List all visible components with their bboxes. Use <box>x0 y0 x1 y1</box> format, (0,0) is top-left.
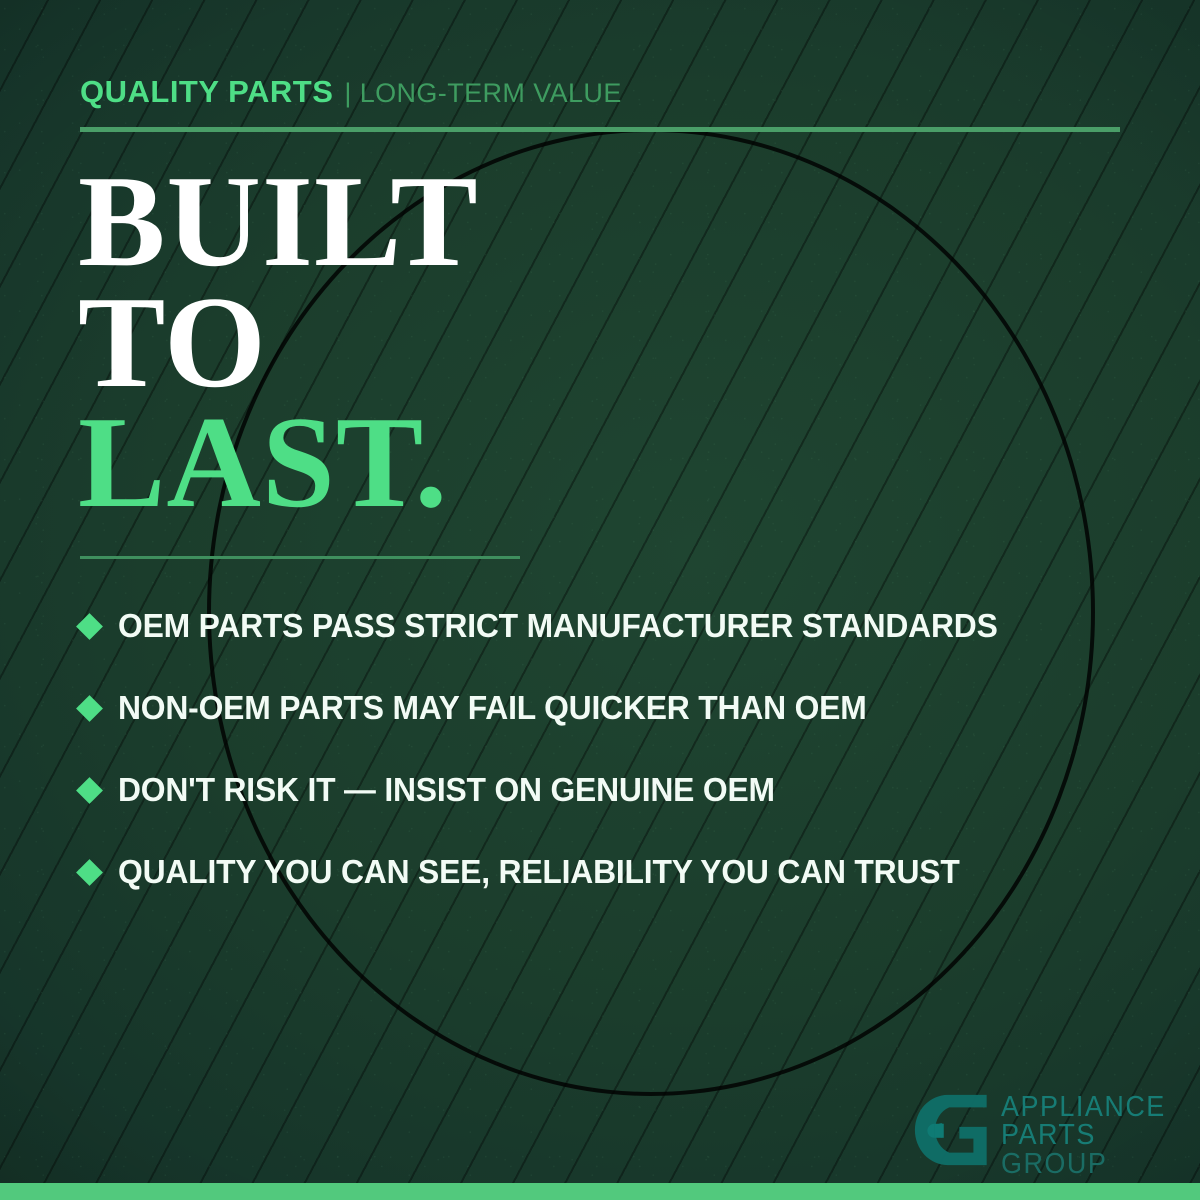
header-divider-rule <box>80 127 1120 132</box>
eyebrow-secondary-label: | LONG-TERM VALUE <box>344 78 621 109</box>
brand-logo-line-1: APPLIANCE <box>1001 1093 1166 1121</box>
list-item: QUALITY YOU CAN SEE, RELIABILITY YOU CAN… <box>80 831 1150 913</box>
list-item-label: QUALITY YOU CAN SEE, RELIABILITY YOU CAN… <box>118 853 960 891</box>
bottom-accent-bar <box>0 1183 1200 1200</box>
headline-line-3: LAST. <box>78 403 479 524</box>
eyebrow-heading: QUALITY PARTS | LONG-TERM VALUE <box>80 74 622 110</box>
list-item: OEM PARTS PASS STRICT MANUFACTURER STAND… <box>80 585 1150 667</box>
brand-logo: APPLIANCE PARTS GROUP <box>911 1091 1178 1178</box>
benefits-list: OEM PARTS PASS STRICT MANUFACTURER STAND… <box>80 585 1150 913</box>
diamond-bullet-icon <box>76 859 103 886</box>
brand-logo-line-2: PARTS <box>1001 1121 1166 1149</box>
diamond-bullet-icon <box>76 613 103 640</box>
eyebrow-primary-label: QUALITY PARTS <box>80 74 333 110</box>
headline-line-2: TO <box>78 283 479 404</box>
list-item: NON-OEM PARTS MAY FAIL QUICKER THAN OEM <box>80 667 1150 749</box>
brand-logo-line-3: GROUP <box>1001 1150 1166 1178</box>
headline-line-1: BUILT <box>78 162 479 283</box>
headline-divider-rule <box>80 556 520 559</box>
diamond-bullet-icon <box>76 777 103 804</box>
appliance-parts-group-g-icon <box>911 1091 989 1169</box>
list-item-label: NON-OEM PARTS MAY FAIL QUICKER THAN OEM <box>118 689 867 727</box>
page-title: BUILT TO LAST. <box>78 162 479 524</box>
poster-content: QUALITY PARTS | LONG-TERM VALUE BUILT TO… <box>0 0 1200 1200</box>
list-item-label: OEM PARTS PASS STRICT MANUFACTURER STAND… <box>118 607 998 645</box>
list-item: DON'T RISK IT — INSIST ON GENUINE OEM <box>80 749 1150 831</box>
list-item-label: DON'T RISK IT — INSIST ON GENUINE OEM <box>118 771 775 809</box>
poster-canvas: QUALITY PARTS | LONG-TERM VALUE BUILT TO… <box>0 0 1200 1200</box>
diamond-bullet-icon <box>76 695 103 722</box>
brand-logo-wordmark: APPLIANCE PARTS GROUP <box>1001 1091 1178 1178</box>
